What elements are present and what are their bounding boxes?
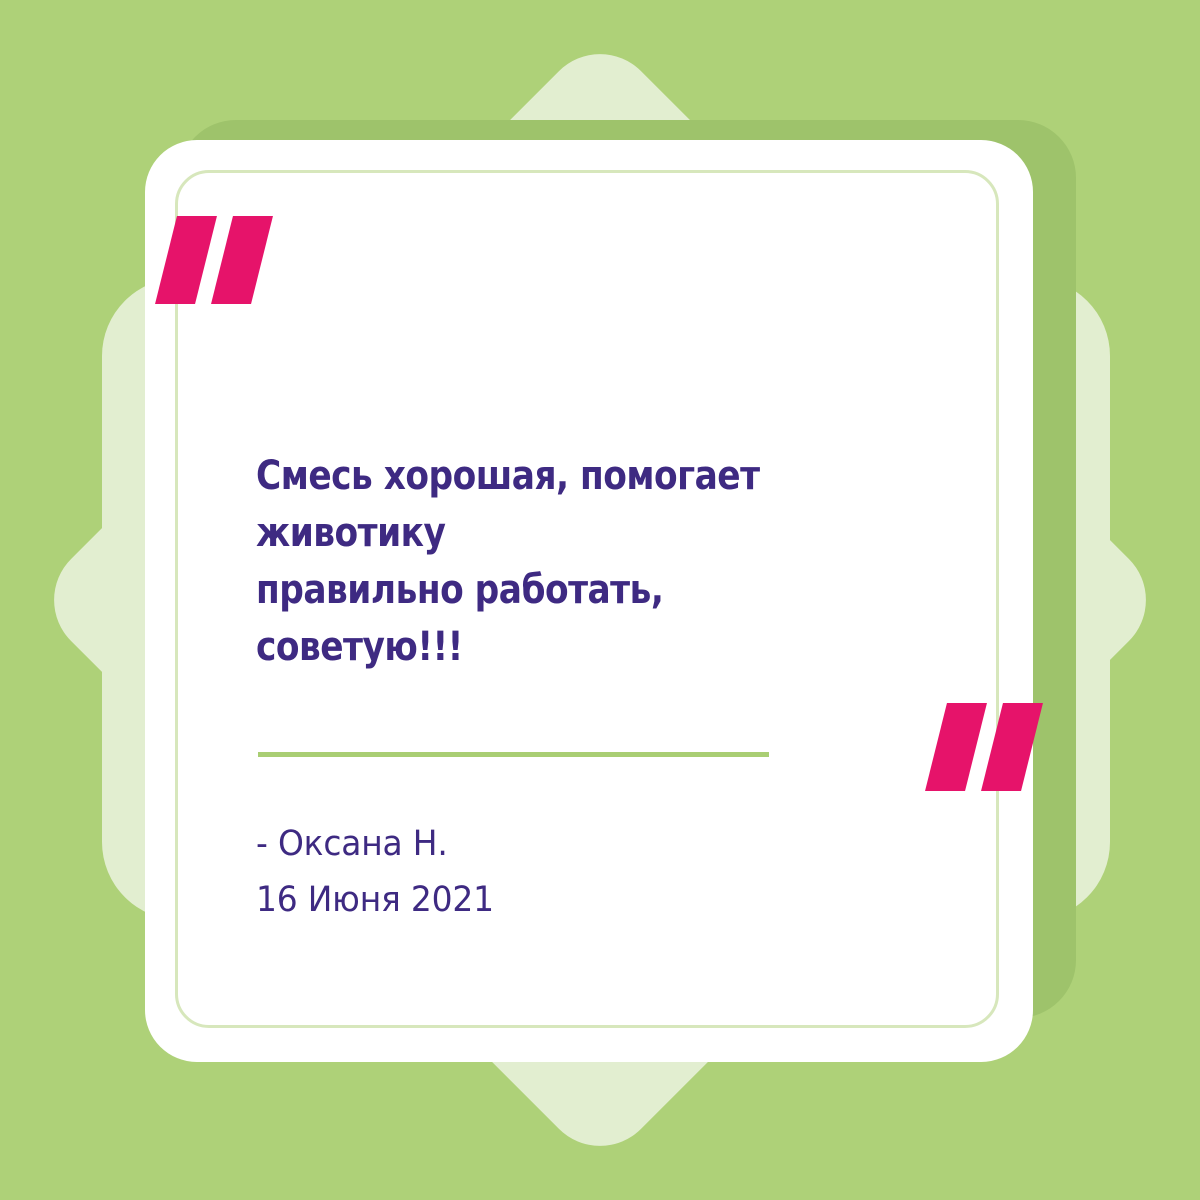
open-quote-icon-bar-right	[211, 216, 273, 304]
close-quote-icon	[930, 703, 1046, 791]
quote-divider	[258, 752, 769, 757]
close-quote-icon-bar-right	[981, 703, 1043, 791]
quote-text: Смесь хорошая, помогает животику правиль…	[256, 448, 875, 676]
review-date: 16 Июня 2021	[256, 872, 494, 928]
attribution-block: - Оксана Н. 16 Июня 2021	[256, 816, 494, 928]
close-quote-icon-bar-left	[925, 703, 987, 791]
open-quote-icon	[160, 216, 276, 304]
open-quote-icon-bar-left	[155, 216, 217, 304]
testimonial-card: Смесь хорошая, помогает животику правиль…	[0, 0, 1200, 1200]
author-name: - Оксана Н.	[256, 816, 494, 872]
